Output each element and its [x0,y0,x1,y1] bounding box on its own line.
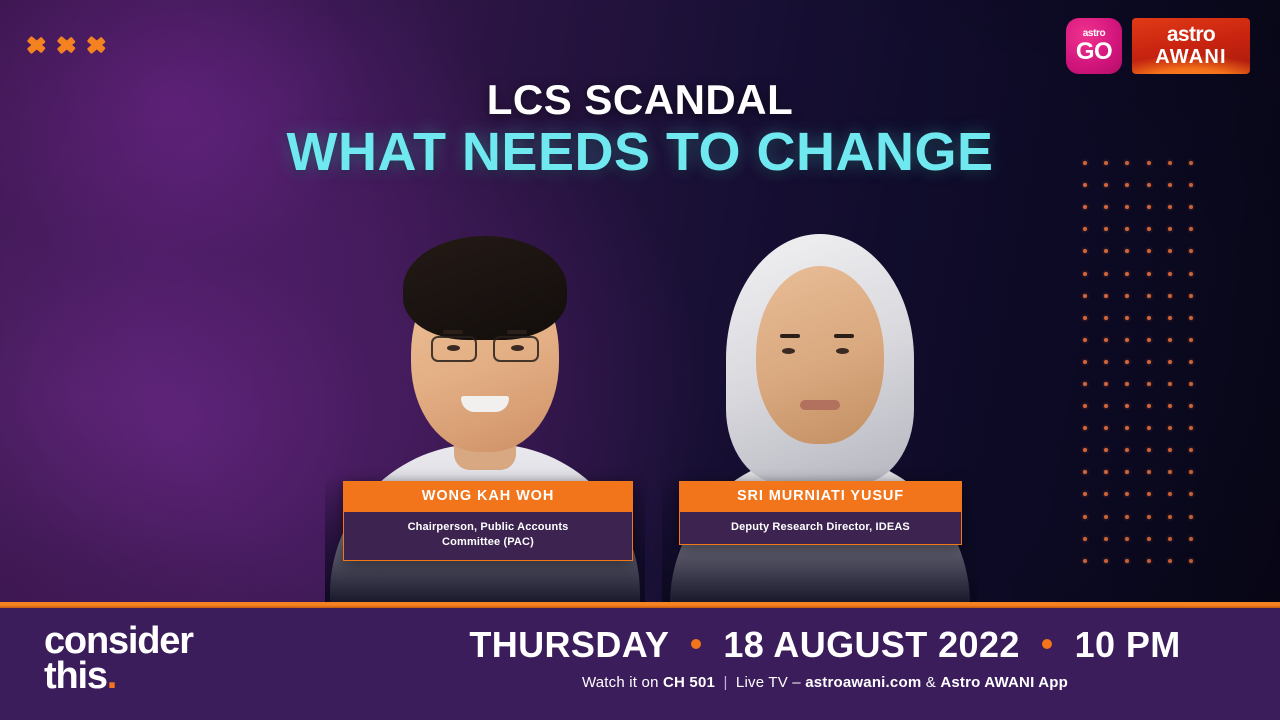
broadcast-promo-graphic: astro GO astro AWANI LCS SCANDAL WHAT NE… [0,0,1280,720]
astro-awani-wordmark-top: astro [1167,24,1215,46]
consider-this-logo: consider this. [44,624,193,695]
chevron-right-icon [86,28,112,62]
watch-app: Astro AWANI App [940,674,1068,691]
astro-go-wordmark-top: astro [1083,29,1105,39]
title-line-secondary: WHAT NEEDS TO CHANGE [0,124,1280,181]
watch-divider: | [723,674,727,691]
speaker-role: Chairperson, Public Accounts Committee (… [344,512,632,561]
separator-dot-icon [1042,639,1052,649]
chevron-right-icon [26,28,52,62]
consider-this-line2: this. [44,659,193,694]
footer-divider-rule [0,602,1280,608]
program-title: LCS SCANDAL WHAT NEEDS TO CHANGE [0,78,1280,181]
watch-prefix: Watch it on [582,674,663,691]
consider-this-line1: consider [44,624,193,659]
consider-this-dot: . [107,655,116,697]
separator-dot-icon [691,639,701,649]
astro-go-logo: astro GO [1066,18,1122,74]
speaker-name: SRI MURNIATI YUSUF [680,482,961,512]
network-logo-bar: astro GO astro AWANI [1066,18,1250,74]
speaker-name: WONG KAH WOH [344,482,632,512]
watch-amp: & [921,674,940,691]
speaker-portraits [0,200,1280,604]
airtime-block: THURSDAY 18 AUGUST 2022 10 PM Watch it o… [400,624,1250,691]
chevrons-right-icon [26,28,112,62]
astro-awani-logo: astro AWANI [1132,18,1250,74]
astro-go-wordmark-bottom: GO [1076,40,1112,64]
astro-awani-wordmark-bottom: AWANI [1155,47,1227,68]
nameplate-speaker-1: WONG KAH WOH Chairperson, Public Account… [343,481,633,561]
air-time: 10 PM [1075,624,1181,665]
nameplate-speaker-2: SRI MURNIATI YUSUF Deputy Research Direc… [679,481,962,545]
watch-instructions: Watch it on CH 501 | Live TV – astroawan… [400,674,1250,691]
watch-live-label: Live TV – [732,674,806,691]
watch-channel: CH 501 [663,674,715,691]
consider-this-word-this: this [44,655,107,697]
title-line-primary: LCS SCANDAL [0,78,1280,122]
air-day: THURSDAY [469,624,668,665]
air-date: 18 AUGUST 2022 [723,624,1019,665]
footer-bar: consider this. THURSDAY 18 AUGUST 2022 1… [0,608,1280,720]
speaker-role: Deputy Research Director, IDEAS [680,512,961,545]
chevron-right-icon [56,28,82,62]
watch-website[interactable]: astroawani.com [805,674,921,691]
airtime-line: THURSDAY 18 AUGUST 2022 10 PM [400,624,1250,665]
